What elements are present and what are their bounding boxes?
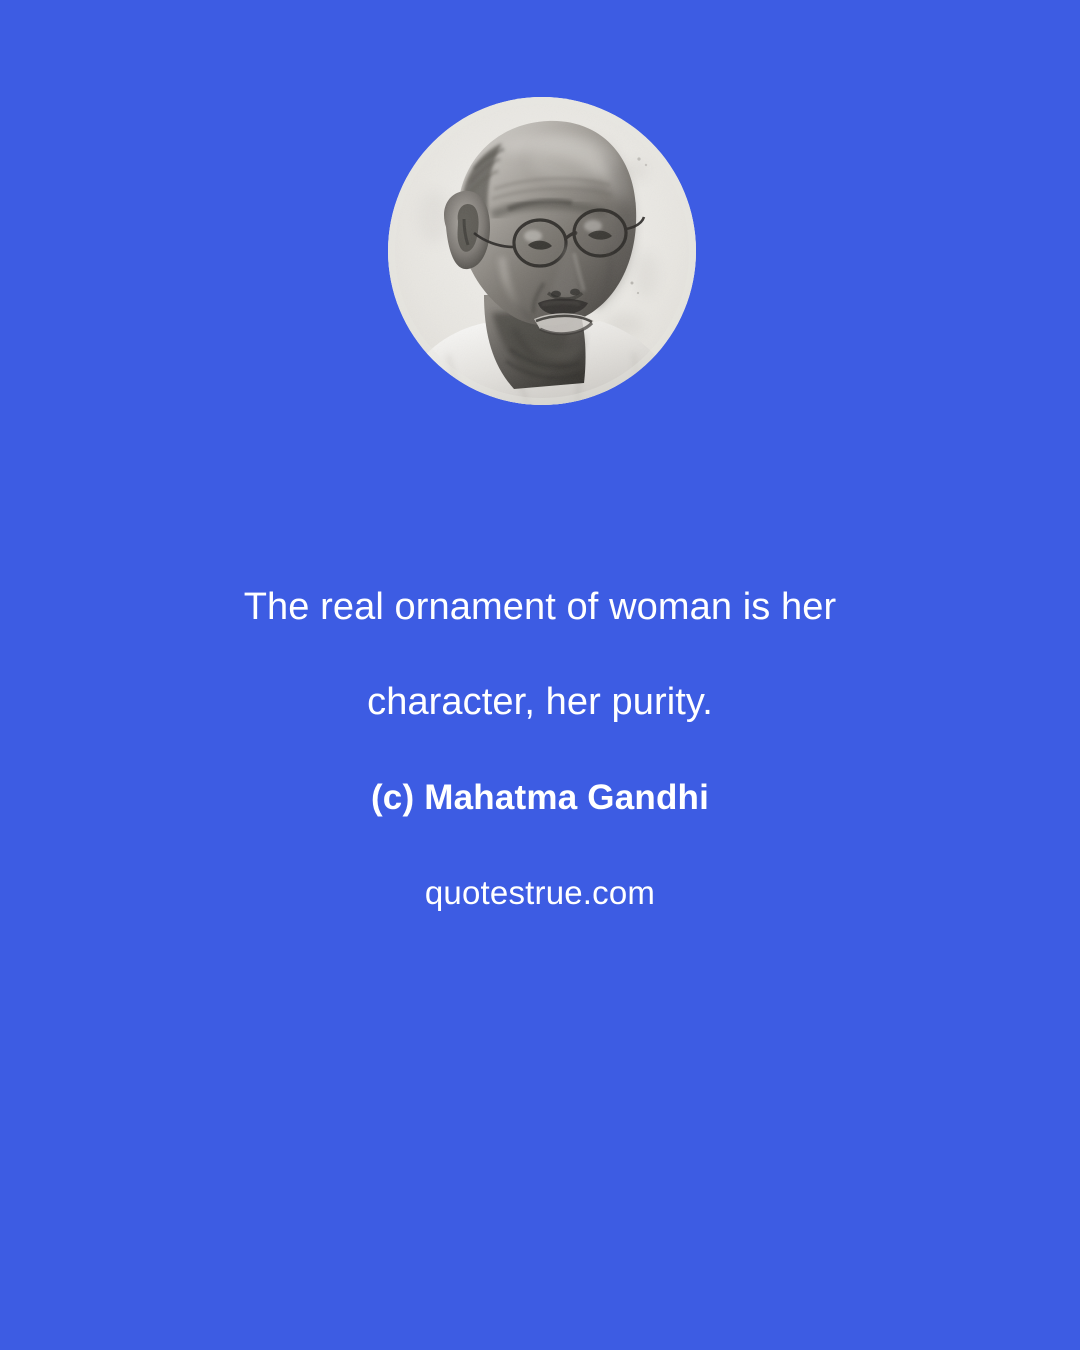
quote-line-2: character, her purity. — [0, 655, 1080, 750]
gandhi-portrait-icon — [388, 97, 696, 405]
quote-line-1: The real ornament of woman is her — [0, 560, 1080, 655]
mahatma-gandhi-portrait — [388, 97, 696, 405]
quote-card: The real ornament of woman is her charac… — [0, 0, 1080, 1350]
quote-attribution: (c) Mahatma Gandhi — [0, 750, 1080, 845]
quote-text-block: The real ornament of woman is her charac… — [0, 560, 1080, 940]
source-website: quotestrue.com — [0, 845, 1080, 940]
